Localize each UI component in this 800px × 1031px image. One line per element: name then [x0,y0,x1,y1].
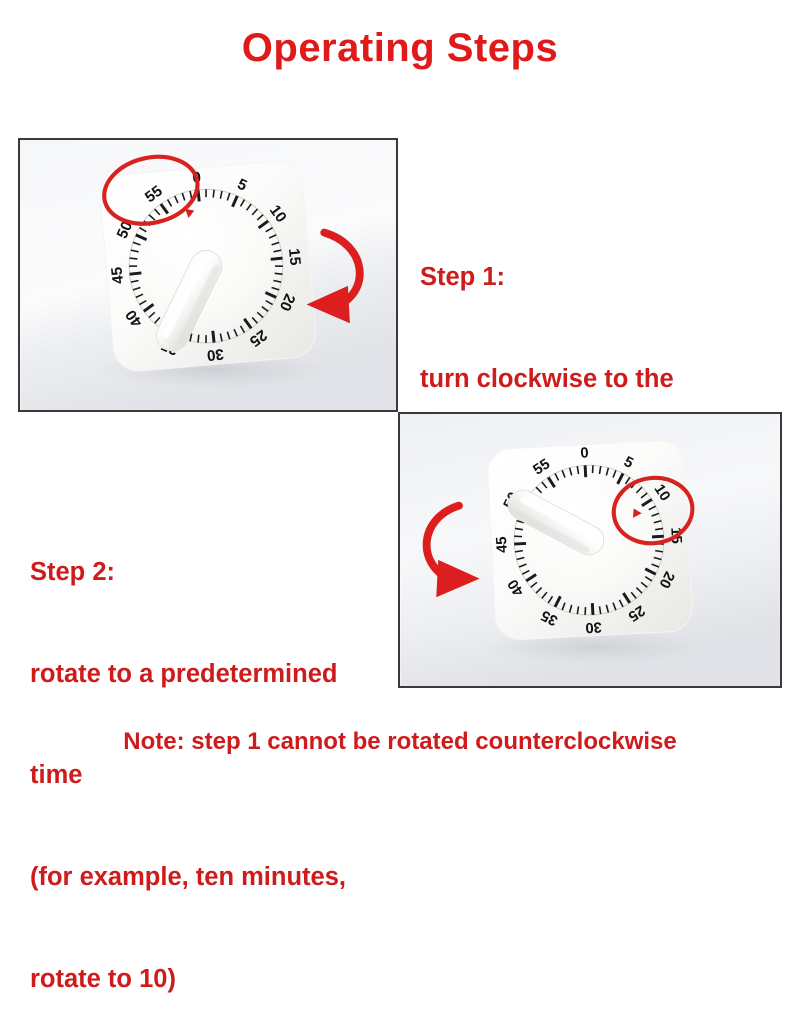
dial-tick-major [271,258,283,259]
dial-label: 0 [580,445,589,461]
dial-label: 15 [285,248,304,267]
dial-tick-major [213,331,214,343]
photo-panel-step-2: 0510152025303540455055 [398,412,782,688]
step-1-line-1: Step 1: [420,261,674,295]
dial-tick-major [592,603,593,615]
dial-label: 30 [585,618,602,635]
step-1-line-2: turn clockwise to the [420,363,674,397]
dial-tick-major [130,273,142,274]
dial-tick-major [585,465,586,477]
timer-illustration-step-1: 0510152025303540455055 [20,140,396,410]
dial-tick-minor [275,273,283,274]
dial-label: 30 [206,345,225,364]
step-2-line-4: (for example, ten minutes, [30,861,346,895]
step-2-line-3: time [30,759,346,793]
step-2-instruction: Step 2: rotate to a predetermined time (… [30,488,346,1031]
timer-illustration-step-2: 0510152025303540455055 [400,414,780,686]
dial-tick-minor [130,258,138,259]
page-title: Operating Steps [0,26,800,70]
dial-tick-minor [213,190,214,198]
dial-tick-minor [198,335,199,343]
dial-label: 45 [494,536,511,553]
step-2-line-5: rotate to 10) [30,963,346,997]
dial-tick-major [652,536,664,537]
note-text: Note: step 1 cannot be rotated countercl… [0,728,800,757]
dial-tick-major [514,543,526,544]
step-2-line-2: rotate to a predetermined [30,658,346,692]
photo-panel-step-1: 0510152025303540455055 [18,138,398,412]
step-2-line-1: Step 2: [30,556,346,590]
dial-label: 45 [108,266,127,285]
